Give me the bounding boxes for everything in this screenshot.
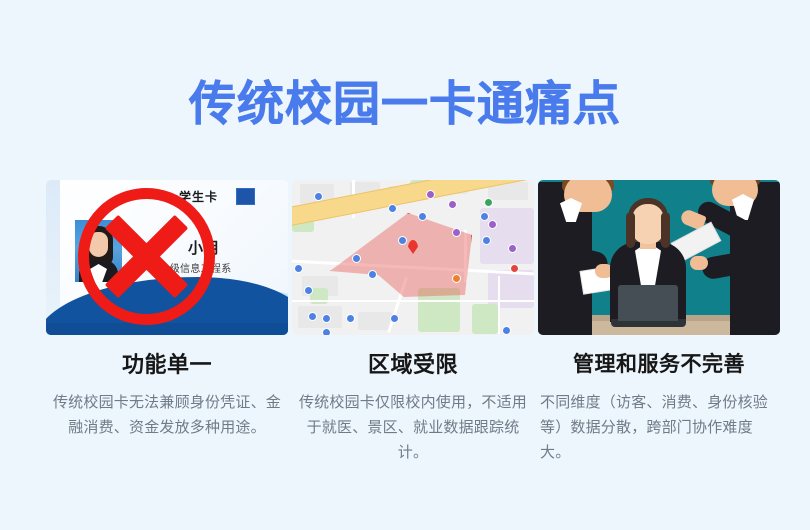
pain-point-card-2: 区域受限 传统校园卡仅限校内使用，不适用于就医、景区、就业数据跟踪统计。	[292, 180, 534, 465]
map-poi-marker	[452, 228, 461, 237]
office-figure	[538, 180, 780, 335]
map-poi-marker	[482, 236, 491, 245]
map-poi-marker	[388, 204, 397, 213]
card-body-text: 传统校园卡无法兼顾身份凭证、金融消费、资金发放多种用途。	[46, 390, 288, 440]
map-building	[298, 306, 342, 328]
infographic-page: 传统校园一卡通痛点 学生卡 小明 23级信息工程系 软件技术2班	[0, 0, 810, 530]
card-heading: 区域受限	[292, 350, 534, 380]
worker-hair-left	[626, 212, 635, 248]
map-poi-marker	[352, 254, 361, 263]
card-heading: 功能单一	[46, 350, 288, 380]
colleague-right-hand	[690, 256, 708, 270]
map-park	[472, 304, 498, 334]
map-poi-marker	[488, 220, 497, 229]
page-title: 传统校园一卡通痛点	[0, 76, 810, 132]
map-poi-marker	[502, 326, 511, 335]
map-poi-marker	[480, 212, 489, 221]
map-poi-marker	[322, 314, 331, 323]
office-illustration	[538, 180, 780, 335]
map-poi-marker	[452, 274, 461, 283]
school-logo-icon	[236, 188, 255, 205]
card-heading: 管理和服务不完善	[538, 350, 780, 380]
map-illustration	[292, 180, 534, 335]
map-poi-marker	[510, 264, 519, 273]
map-poi-marker	[368, 270, 377, 279]
worker-hair-right	[661, 212, 670, 248]
map-road	[498, 276, 500, 334]
map-poi-marker	[426, 190, 435, 199]
prohibition-x-icon	[78, 188, 215, 325]
worker-face-highlight	[634, 206, 662, 232]
map-poi-marker	[308, 312, 317, 321]
map-figure	[292, 180, 534, 335]
map-poi-marker	[390, 314, 399, 323]
map-building	[358, 312, 392, 330]
map-poi-marker	[322, 328, 331, 335]
pain-point-card-3: 管理和服务不完善 不同维度（访客、消费、身份核验等）数据分散，跨部门协作难度大。	[538, 180, 780, 465]
student-card-illustration: 学生卡 小明 23级信息工程系 软件技术2班	[46, 180, 288, 335]
pain-point-card-1: 学生卡 小明 23级信息工程系 软件技术2班	[46, 180, 288, 440]
card-body-text: 不同维度（访客、消费、身份核验等）数据分散，跨部门协作难度大。	[538, 390, 780, 465]
student-card-figure: 学生卡 小明 23级信息工程系 软件技术2班	[46, 180, 288, 335]
map-poi-marker	[346, 314, 355, 323]
map-poi-marker	[484, 198, 493, 207]
card-body-text: 传统校园卡仅限校内使用，不适用于就医、景区、就业数据跟踪统计。	[292, 390, 534, 465]
map-poi-marker	[398, 236, 407, 245]
map-poi-marker	[294, 264, 303, 273]
map-district	[488, 270, 534, 308]
map-poi-marker	[508, 244, 517, 253]
laptop-screen	[618, 285, 678, 321]
map-poi-marker	[448, 200, 457, 209]
map-poi-marker	[314, 192, 323, 201]
map-poi-marker	[304, 286, 313, 295]
map-poi-marker	[418, 212, 427, 221]
